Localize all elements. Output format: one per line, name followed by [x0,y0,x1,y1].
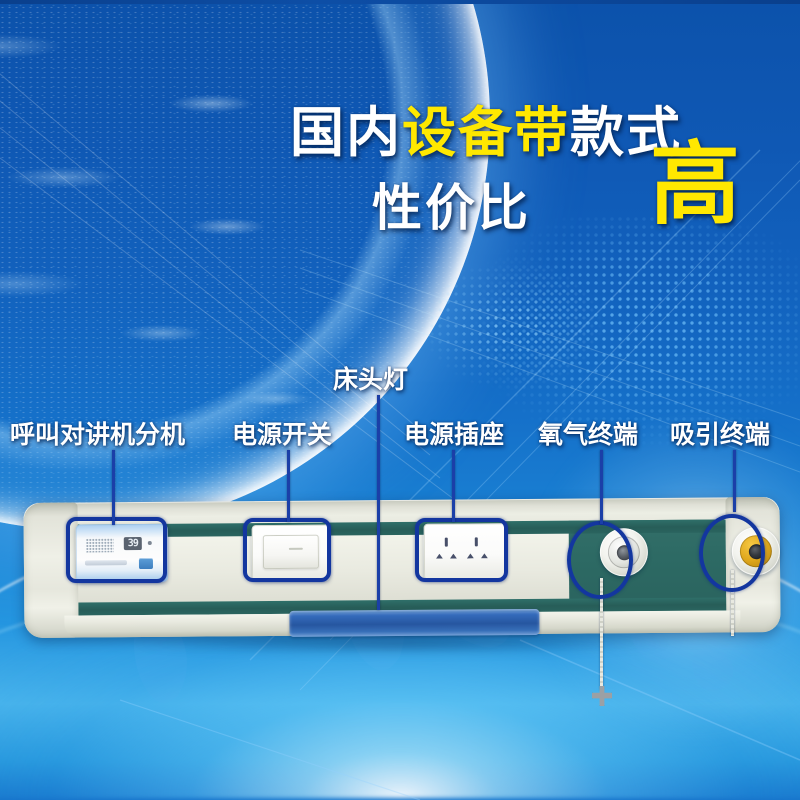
callout-label-oxygen-terminal: 氧气终端 [538,415,638,451]
callout-label-intercom: 呼叫对讲机分机 [10,415,185,451]
callout-label-suction-terminal: 吸引终端 [670,415,770,451]
callout-label-power-socket: 电源插座 [404,415,504,451]
banner-stage: 国内设备带款式 性价比 高 呼叫对讲机分机 电源开关 床头灯 电源插座 氧气终端… [0,0,800,800]
callout-label-bed-lamp: 床头灯 [333,360,408,396]
callout-label-power-switch: 电源开关 [232,415,332,451]
top-edge-line [0,0,800,4]
callout-labels: 呼叫对讲机分机 电源开关 床头灯 电源插座 氧气终端 吸引终端 [0,0,800,800]
